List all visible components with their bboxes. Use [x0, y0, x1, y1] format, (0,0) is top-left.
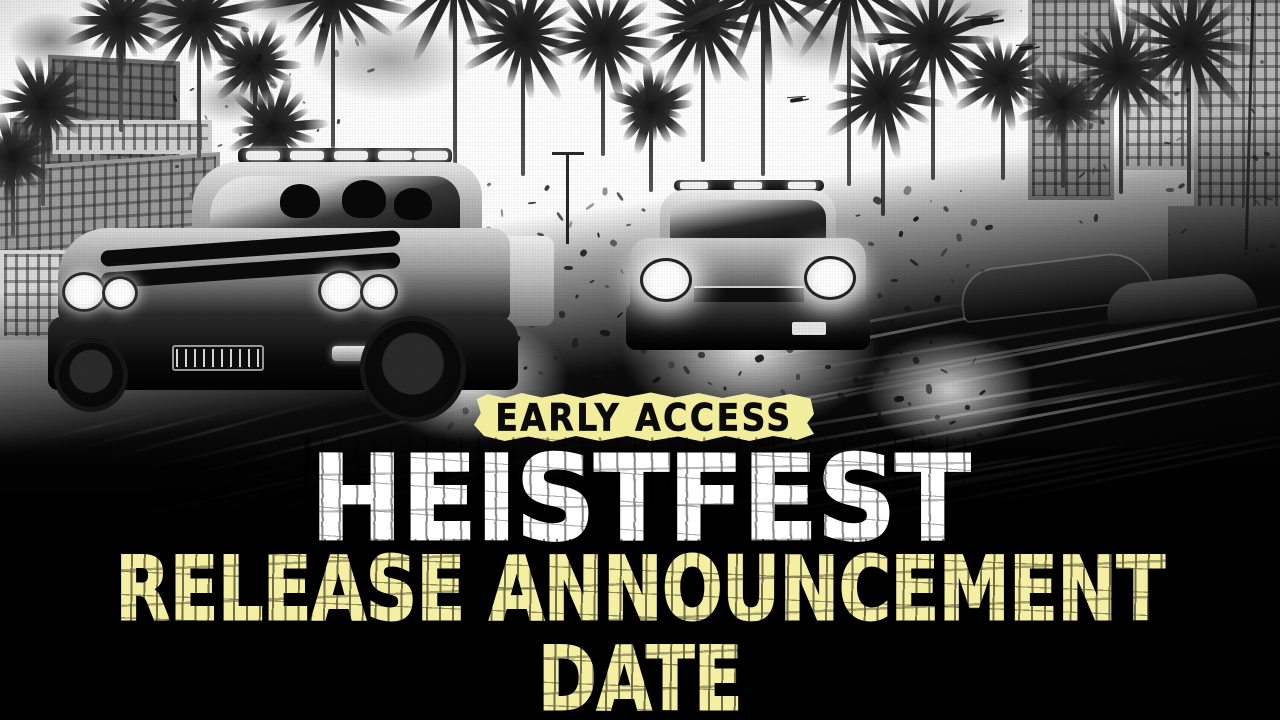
debris-chip — [1166, 188, 1174, 192]
title-container: HEISTFEST — [0, 448, 1280, 552]
car2-bumper — [626, 302, 870, 350]
car1-rear-wheel — [54, 338, 128, 412]
subtitle-container: RELEASE ANNOUNCEMENT DATE — [0, 560, 1280, 708]
video-thumbnail-poster: 31 — [0, 0, 1280, 720]
car2-license-plate — [792, 322, 826, 335]
debris-chip — [567, 383, 571, 390]
debris-chip — [1020, 10, 1022, 12]
car1-headlight-inner-right — [318, 270, 364, 312]
debris-chip — [602, 187, 607, 195]
palm-tree — [10, 150, 16, 236]
helicopter — [970, 15, 1006, 29]
palm-tree — [330, 0, 336, 154]
debris-chip — [891, 279, 898, 282]
helicopter-tail — [891, 40, 901, 44]
palm-crown — [821, 40, 945, 140]
car2-windshield — [670, 200, 826, 240]
palm-crown — [1114, 0, 1264, 98]
palm-crown — [608, 67, 694, 139]
car2-headlight-right — [804, 256, 856, 300]
car1-occupant-c — [394, 188, 432, 220]
car1-license-plate — [172, 345, 264, 371]
palm-tree — [196, 8, 202, 158]
car1-occupant-b — [342, 180, 386, 218]
debris-chip — [333, 50, 339, 58]
helicopter — [878, 37, 903, 47]
palm-tree — [600, 30, 606, 156]
car1-occupant-a — [280, 184, 320, 218]
debris-chip — [899, 351, 903, 354]
helicopter — [1019, 44, 1041, 53]
car1-front-wheel — [360, 316, 466, 422]
helicopter — [672, 30, 703, 42]
chaser-car — [612, 176, 882, 386]
helicopter-tail — [801, 98, 809, 101]
car2-headlight-left — [640, 258, 692, 302]
car1-headlight-outer-left — [62, 272, 106, 312]
debris-chip — [1268, 244, 1276, 249]
debris-chip — [1168, 234, 1170, 236]
debris-chip — [930, 200, 932, 202]
debris-chip — [564, 266, 573, 270]
palm-tree — [118, 12, 124, 132]
police-cruiser-car: 31 — [42, 140, 562, 415]
debris-chip — [723, 386, 727, 390]
car1-headlight-inner-left — [102, 276, 138, 310]
debris-chip — [960, 190, 962, 192]
helicopter-tail — [1031, 46, 1040, 49]
page-subtitle: RELEASE ANNOUNCEMENT DATE — [6, 544, 1273, 720]
car1-headlight-outer-right — [360, 274, 398, 310]
debris-chip — [1242, 206, 1244, 208]
helicopter — [790, 96, 810, 104]
